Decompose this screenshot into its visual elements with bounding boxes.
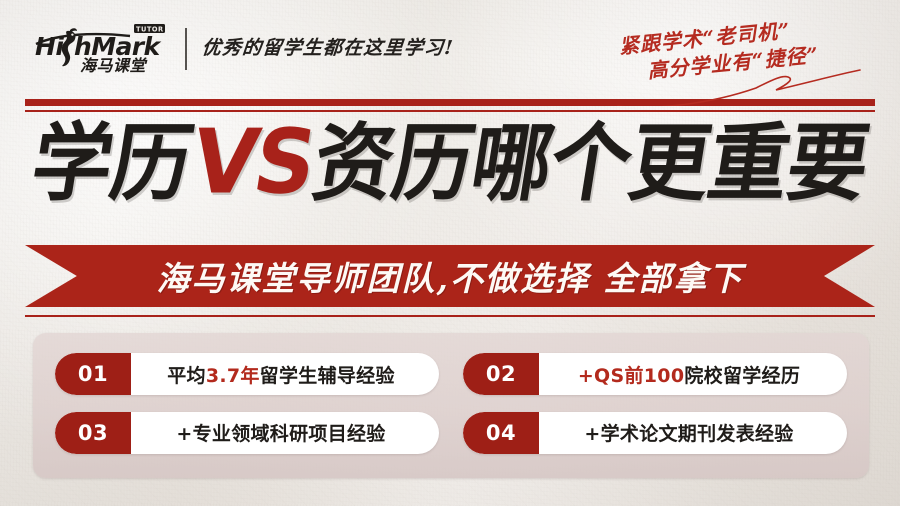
item-label-after: 留学生辅导经验	[260, 361, 395, 388]
ribbon-text: 海马课堂导师团队,不做选择 全部拿下	[25, 245, 875, 307]
highmark-logo-svg: Hi hMark TUTOR 海马课堂	[34, 22, 180, 74]
svg-text:TUTOR: TUTOR	[136, 25, 164, 33]
headline-part2: 资历哪个更重要	[306, 114, 875, 213]
item-number-badge: 01	[55, 353, 131, 395]
brand-tagline: 优秀的留学生都在这里学习!	[201, 33, 455, 60]
item-label: +专业领域科研项目经验	[131, 412, 439, 454]
headline-text: 学历VS资历哪个更重要	[26, 117, 875, 206]
list-item[interactable]: 04 +学术论文期刊发表经验	[463, 412, 847, 454]
item-label: +QS前100院校留学经历	[539, 353, 847, 395]
headline-block: 学历VS资历哪个更重要	[0, 112, 900, 212]
item-label-highlight: 3.7年	[206, 361, 260, 388]
item-label-after: 院校留学经历	[684, 361, 800, 388]
headline-part1: 学历	[25, 114, 199, 213]
poster-header: Hi hMark TUTOR 海马课堂 优秀的留学生都在这里学习! 紧跟学术“老…	[0, 0, 900, 92]
svg-text:Hi: Hi	[35, 32, 64, 61]
item-label: 平均3.7年留学生辅导经验	[131, 353, 439, 395]
divider-thin-under-ribbon	[25, 315, 875, 317]
item-label: +学术论文期刊发表经验	[539, 412, 847, 454]
headline-vs: VS	[183, 110, 323, 214]
item-label-before: +学术论文期刊发表经验	[584, 419, 793, 446]
handwritten-note: 紧跟学术“老司机” 高分学业有“捷径”	[618, 15, 820, 88]
list-item[interactable]: 03 +专业领域科研项目经验	[55, 412, 439, 454]
item-number-badge: 04	[463, 412, 539, 454]
poster-canvas: Hi hMark TUTOR 海马课堂 优秀的留学生都在这里学习! 紧跟学术“老…	[0, 0, 900, 506]
brand-logo: Hi hMark TUTOR 海马课堂	[34, 22, 180, 74]
item-label-before: +专业领域科研项目经验	[176, 419, 385, 446]
header-divider	[185, 28, 187, 70]
item-number-badge: 02	[463, 353, 539, 395]
item-label-highlight: +QS前100	[578, 361, 685, 388]
item-label-before: 平均	[167, 361, 206, 388]
list-item[interactable]: 01 平均3.7年留学生辅导经验	[55, 353, 439, 395]
list-item[interactable]: 02 +QS前100院校留学经历	[463, 353, 847, 395]
divider-thick-top	[25, 99, 875, 106]
logo-cn-label: 海马课堂	[80, 56, 149, 74]
features-list: 01 平均3.7年留学生辅导经验 02 +QS前100院校留学经历 03 +专业…	[33, 333, 869, 478]
item-number-badge: 03	[55, 412, 131, 454]
